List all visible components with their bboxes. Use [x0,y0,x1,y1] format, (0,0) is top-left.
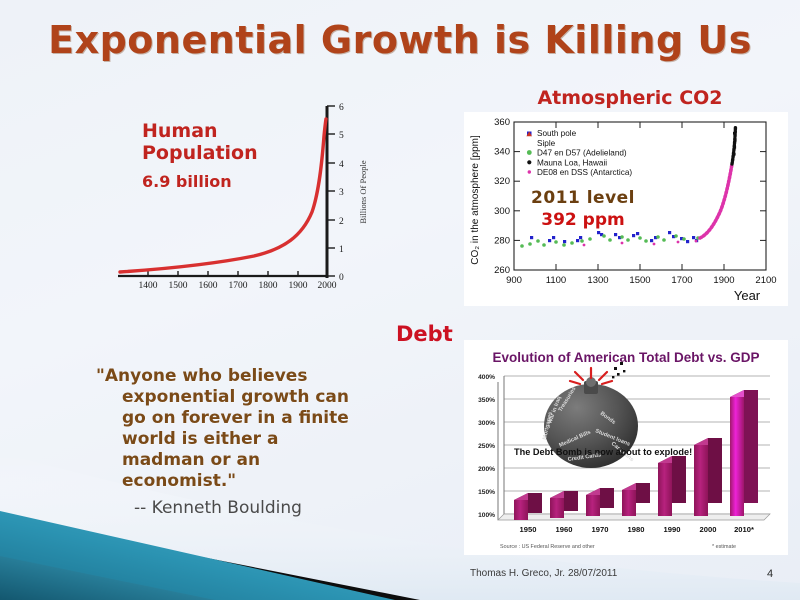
svg-text:280: 280 [494,235,510,246]
svg-text:1970: 1970 [592,525,609,534]
svg-text:0: 0 [339,273,344,283]
svg-text:South pole: South pole [537,129,577,138]
page-title: Exponential Growth is Killing Us [0,18,800,62]
co2-annotation-line1: 2011 level [508,188,658,208]
svg-text:250%: 250% [478,443,495,450]
svg-text:1960: 1960 [556,525,573,534]
svg-text:150%: 150% [478,489,495,496]
human-population-chart: 1400 1500 1600 1700 1800 1900 2000 0 1 2… [104,92,376,304]
svg-text:350%: 350% [478,397,495,404]
svg-text:2: 2 [339,217,344,227]
debt-bomb-caption: The Debt Bomb is now about to explode! [514,447,692,457]
slide-footer: Thomas H. Greco, Jr. 28/07/2011 4 [0,568,800,586]
svg-text:2000: 2000 [318,281,337,291]
quote-text: "Anyone who believes exponential growth … [96,366,426,492]
population-caption-value: 6.9 billion [142,172,292,191]
debt-source-note: Source : US Federal Reserve and other [500,544,595,550]
svg-text:Mauna Loa, Hawaii: Mauna Loa, Hawaii [537,158,607,167]
debt-estimate-note: * estimate [712,544,736,550]
svg-text:6: 6 [339,103,344,113]
quote-line-1: "Anyone who believes [96,366,307,386]
svg-text:360: 360 [494,117,510,128]
svg-text:1500: 1500 [629,275,650,286]
co2-x-axis-label: Year [734,288,761,303]
svg-text:1700: 1700 [229,281,248,291]
population-caption-line2: Population [142,142,292,164]
svg-text:1500: 1500 [169,281,188,291]
svg-text:320: 320 [494,176,510,187]
quote-line-3: go on forever in a finite [96,408,426,429]
svg-text:2010*: 2010* [734,525,754,534]
debt-chart-title: Evolution of American Total Debt vs. GDP [492,350,759,365]
co2-heading: Atmospheric CO2 [470,87,790,109]
quote-line-5: madman or an [96,450,426,471]
slide-number: 4 [767,568,773,580]
svg-text:1900: 1900 [713,275,734,286]
svg-text:100%: 100% [478,512,495,519]
footer-author: Thomas H. Greco, Jr. [470,568,565,579]
quote-line-2: exponential growth can [96,387,426,408]
svg-text:D47 en D57 (Adelieland): D47 en D57 (Adelieland) [537,149,627,158]
svg-text:4: 4 [339,160,344,170]
svg-text:1980: 1980 [628,525,645,534]
population-caption: Human Population 6.9 billion [142,120,292,191]
svg-text:340: 340 [494,147,510,158]
svg-text:400%: 400% [478,374,495,381]
svg-text:3: 3 [339,188,344,198]
svg-text:200%: 200% [478,466,495,473]
svg-text:900: 900 [506,275,522,286]
svg-text:300%: 300% [478,420,495,427]
svg-text:2000: 2000 [700,525,717,534]
quote-block: "Anyone who believes exponential growth … [96,366,426,518]
svg-text:2100: 2100 [755,275,776,286]
co2-annotation-line2: 392 ppm [508,210,658,230]
svg-text:1600: 1600 [199,281,218,291]
svg-text:1900: 1900 [289,281,308,291]
footer-date: 28/07/2011 [568,568,617,579]
svg-text:DE08 en DSS (Antarctica): DE08 en DSS (Antarctica) [537,168,632,177]
svg-text:1: 1 [339,245,344,255]
svg-text:1100: 1100 [546,275,566,286]
american-debt-chart: Evolution of American Total Debt vs. GDP… [464,340,788,555]
quote-attribution: -- Kenneth Boulding [134,498,426,518]
debt-heading: Debt [396,322,453,346]
debt-plot-svg: Evolution of American Total Debt vs. GDP… [464,340,788,555]
svg-text:1300: 1300 [587,275,608,286]
quote-line-4: world is either a [96,429,426,450]
svg-text:1990: 1990 [664,525,681,534]
quote-line-6: economist." [96,471,426,492]
svg-text:5: 5 [339,131,344,141]
co2-annotation: 2011 level 392 ppm [508,188,658,230]
svg-text:1800: 1800 [259,281,278,291]
svg-text:Siple: Siple [537,139,556,148]
population-caption-line1: Human [142,120,292,142]
co2-y-axis-label: CO₂ in the atmosphere [ppm] [470,135,481,265]
svg-text:1700: 1700 [671,275,692,286]
svg-text:Billions Of People: Billions Of People [358,160,368,224]
svg-text:1400: 1400 [139,281,158,291]
svg-text:1950: 1950 [520,525,537,534]
